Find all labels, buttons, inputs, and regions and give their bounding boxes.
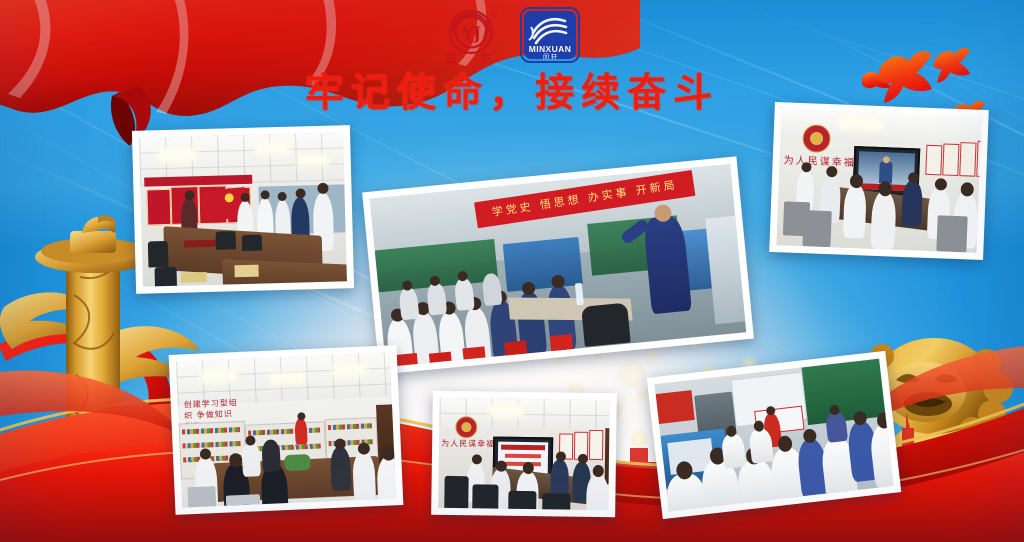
page-title: 牢记使命，接续奋斗 — [0, 62, 1024, 118]
wall-calligraphy: 为人民谋幸福 — [441, 438, 495, 450]
photo-conference-image: 为人民谋幸福 — [438, 398, 610, 510]
photo-oath[interactable] — [132, 125, 354, 294]
photo-video-study[interactable]: 为人民谋幸福 — [769, 102, 989, 260]
photo-conference[interactable]: 为人民谋幸福 — [431, 391, 617, 518]
wall-calligraphy: 为人民谋幸福 — [783, 151, 856, 169]
photo-lecture[interactable]: 学党史 悟思想 办实事 开新局 — [362, 156, 754, 374]
minxuan-logo[interactable]: MINXUAN 闵 轩 — [520, 7, 580, 63]
photo-reading-room[interactable]: 创建学习型组织 争做知识型职工 — [169, 345, 404, 515]
poster-canvas: 学党史 悟思想 办实事 开新局 — [0, 0, 1024, 542]
photo-oath-image — [139, 132, 347, 286]
yj-logo[interactable]: YJ ® 益 生 — [444, 6, 502, 64]
photo-video-study-image: 为人民谋幸福 — [776, 109, 981, 253]
logo-row: YJ ® 益 生 MINXUAN 闵 轩 — [0, 6, 1024, 64]
photo-workshop-image — [654, 359, 893, 512]
svg-text:®: ® — [490, 10, 498, 19]
svg-text:YJ: YJ — [461, 24, 481, 44]
svg-text:MINXUAN: MINXUAN — [529, 44, 571, 54]
photo-reading-room-image: 创建学习型组织 争做知识型职工 — [176, 352, 396, 507]
photo-workshop[interactable] — [647, 351, 902, 519]
svg-text:闵 轩: 闵 轩 — [543, 53, 557, 61]
photo-lecture-image: 学党史 悟思想 办实事 开新局 — [370, 164, 747, 367]
